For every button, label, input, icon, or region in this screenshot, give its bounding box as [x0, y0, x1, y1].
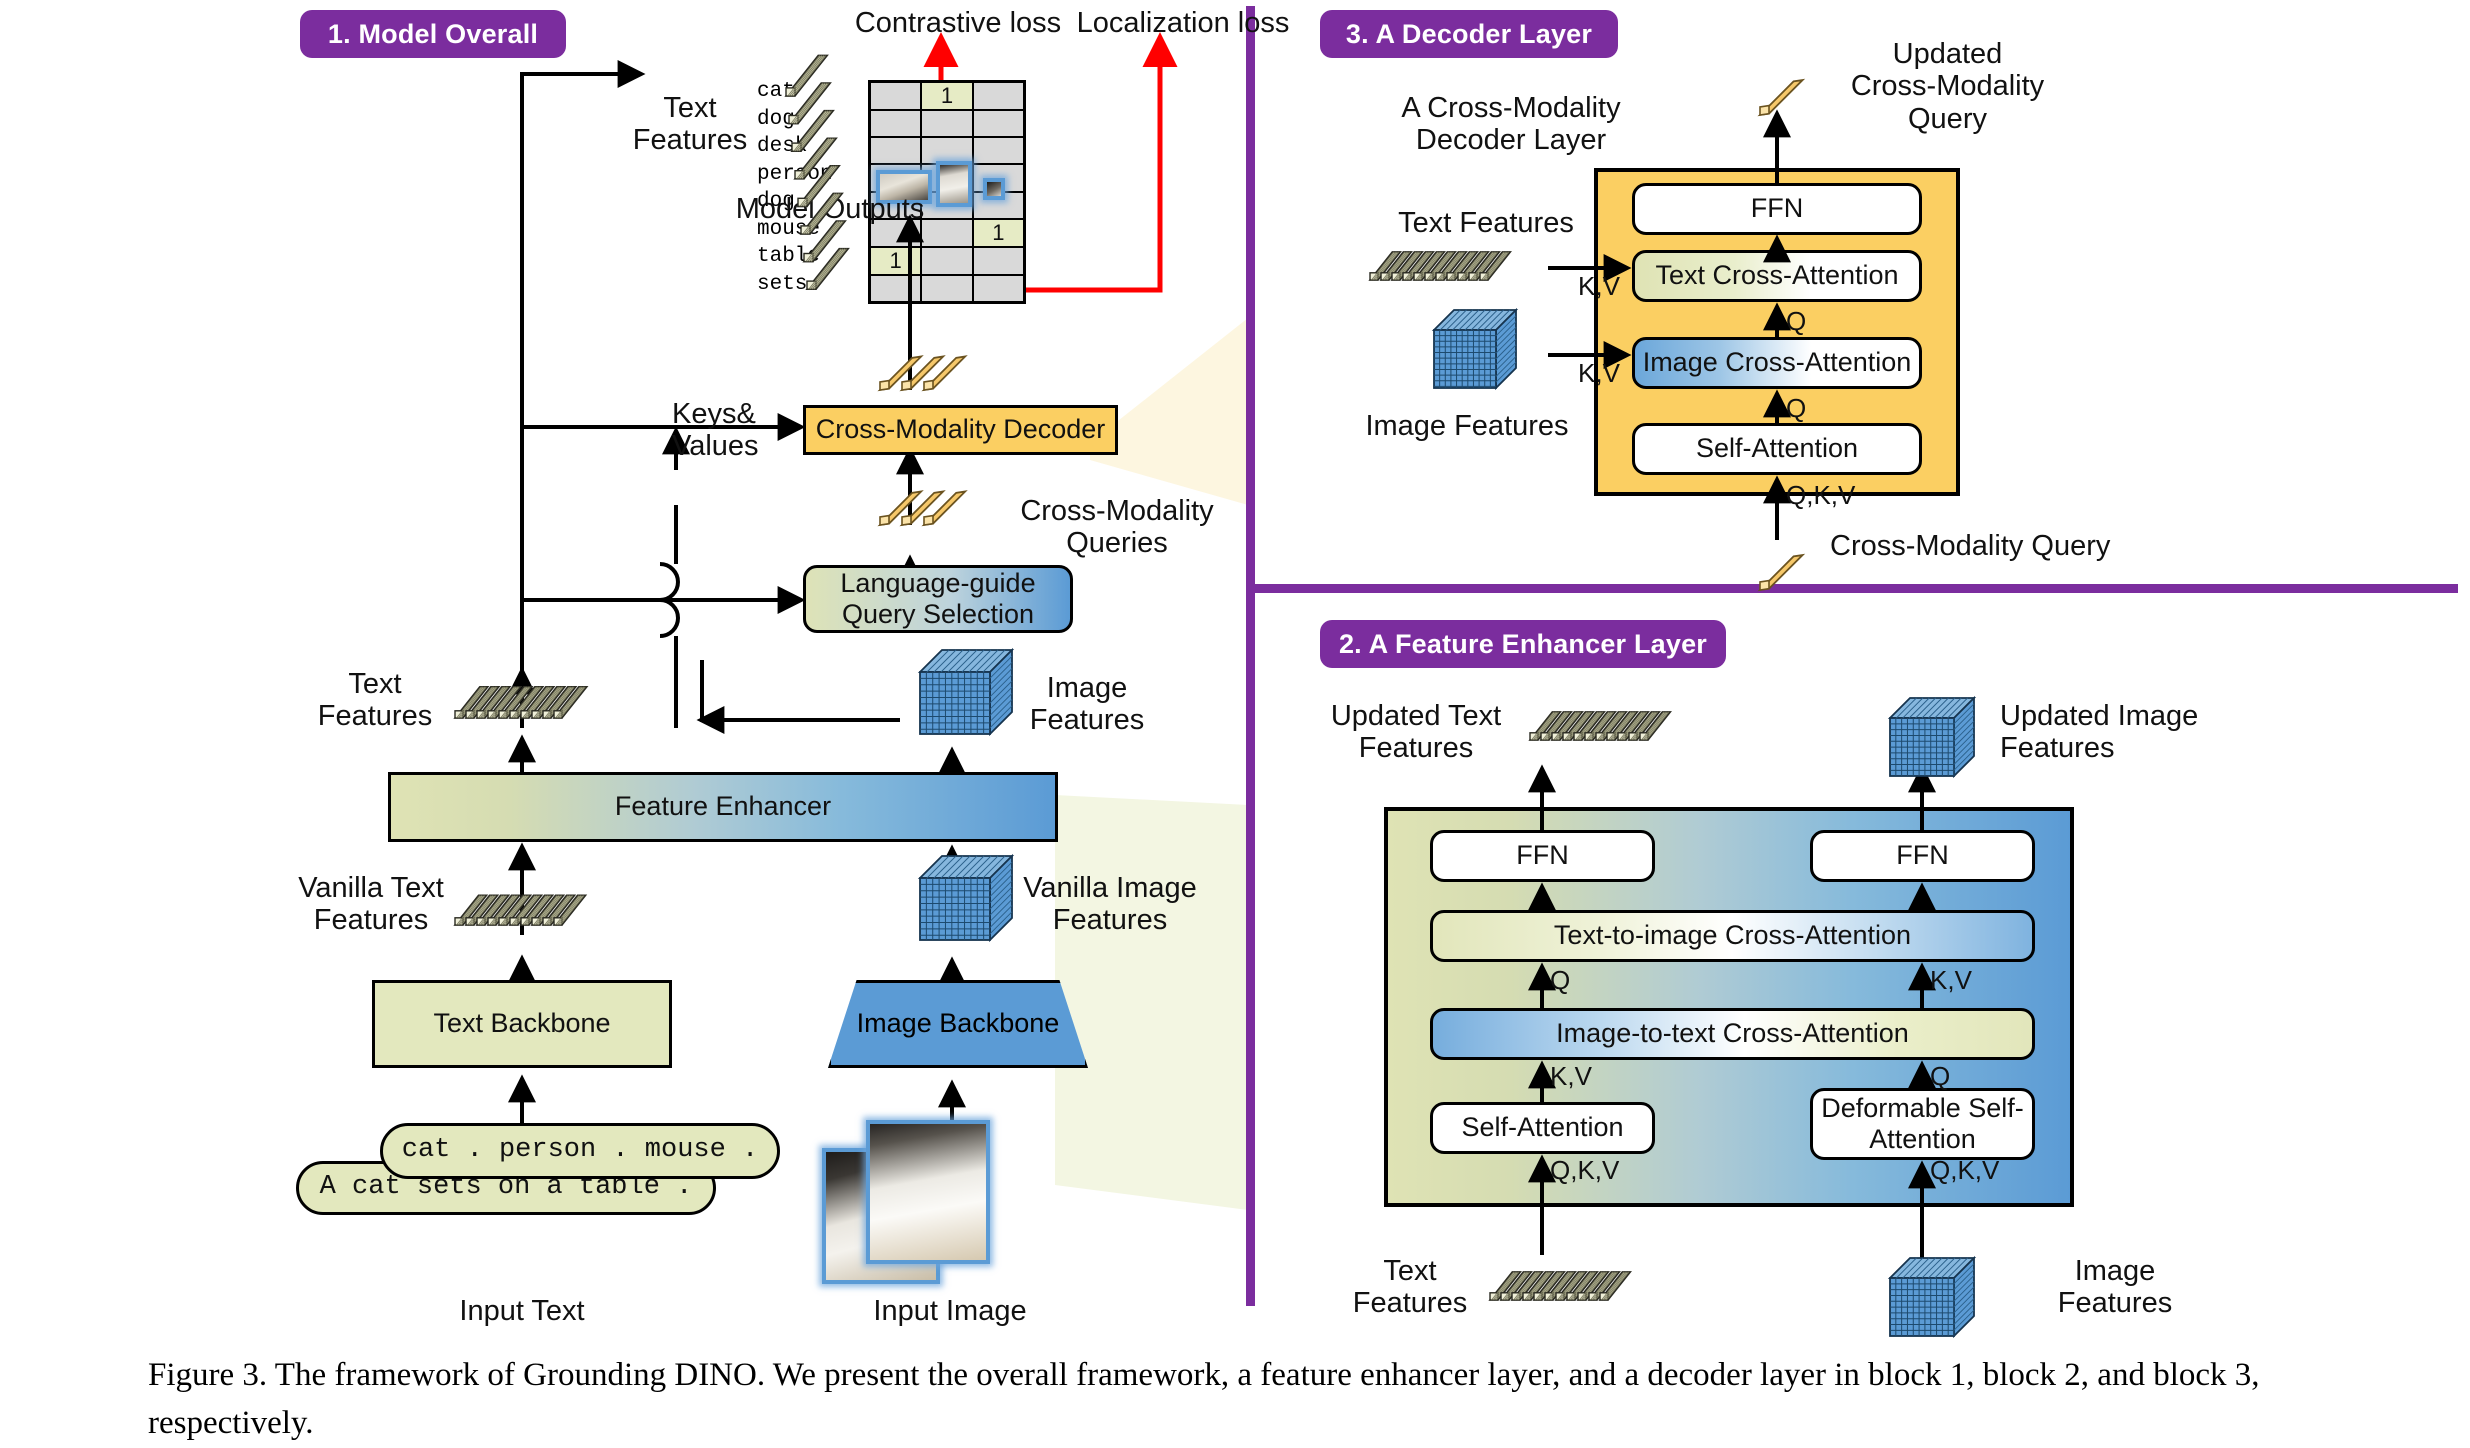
- figure-caption: Figure 3. The framework of Grounding DIN…: [148, 1352, 2378, 1448]
- matrix-text-token-stack: [786, 55, 848, 289]
- prompt-classes-pill[interactable]: cat . person . mouse .: [380, 1123, 780, 1179]
- updated-image-features-cube: [1890, 698, 1974, 776]
- glyph-layer: [0, 0, 2470, 1447]
- figure-canvas: 1. Model Overall Contrastive loss Locali…: [0, 0, 2470, 1447]
- enhancer-image-features-cube: [1890, 1258, 1974, 1336]
- decoder-image-features-cube: [1434, 310, 1516, 388]
- decoder-text-features-tokens: [1370, 252, 1510, 280]
- image-features-cube-block1: [920, 650, 1012, 734]
- cross-modality-query-bars: [880, 491, 965, 525]
- updated-cross-modality-query-bar: [1760, 80, 1803, 115]
- cross-modality-query-input-bar: [1760, 555, 1803, 590]
- vanilla-image-features-cube: [920, 856, 1012, 940]
- input-image-front: [866, 1120, 990, 1264]
- enhancer-text-features-tokens: [1490, 1272, 1630, 1300]
- decoder-output-query-bars: [880, 356, 965, 390]
- text-features-mid-tokens: [455, 687, 587, 718]
- vanilla-text-features-tokens: [455, 895, 586, 925]
- updated-text-features-tokens: [1530, 712, 1670, 740]
